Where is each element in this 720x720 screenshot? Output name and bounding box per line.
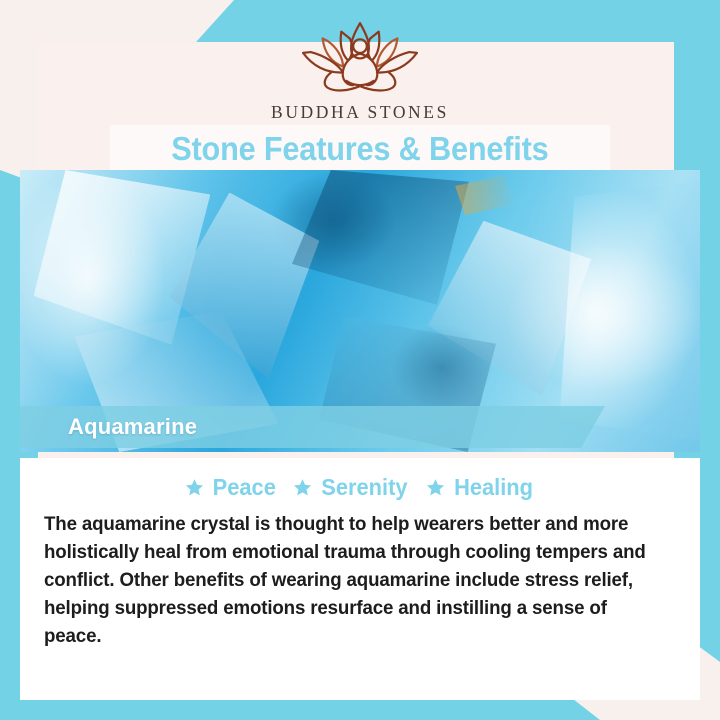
crystal-facet: [292, 170, 469, 317]
crystal-facet: [428, 221, 591, 396]
benefit-item: Serenity: [293, 474, 410, 501]
infographic-page: BUDDHA STONES Stone Features & Benefits …: [0, 0, 720, 720]
brand-logo-block: BUDDHA STONES: [0, 18, 720, 123]
page-title: Stone Features & Benefits: [171, 130, 548, 168]
crystal-facet: [455, 176, 516, 215]
benefit-label: Healing: [454, 474, 533, 501]
brand-name: BUDDHA STONES: [271, 102, 449, 123]
benefit-item: Peace: [185, 474, 278, 501]
benefit-label: Serenity: [322, 474, 408, 501]
crystal-facet: [34, 170, 211, 345]
star-icon: [293, 478, 312, 497]
benefits-row: Peace Serenity Healing: [44, 474, 676, 501]
description-text: The aquamarine crystal is thought to hel…: [44, 511, 654, 651]
content-card: Peace Serenity Healing The aquamarine cr…: [20, 458, 700, 700]
star-icon: [185, 478, 204, 497]
crystal-facet: [550, 181, 700, 440]
benefit-item: Healing: [426, 474, 535, 501]
aquamarine-crystal-photo: Aquamarine: [20, 170, 700, 452]
stone-name-label: Aquamarine: [68, 414, 197, 440]
lotus-meditation-icon: [275, 18, 445, 98]
title-panel: Stone Features & Benefits: [110, 125, 610, 172]
star-icon: [426, 478, 445, 497]
crystal-facet: [170, 193, 320, 379]
stone-name-banner: Aquamarine: [20, 406, 605, 448]
benefit-label: Peace: [212, 474, 275, 501]
